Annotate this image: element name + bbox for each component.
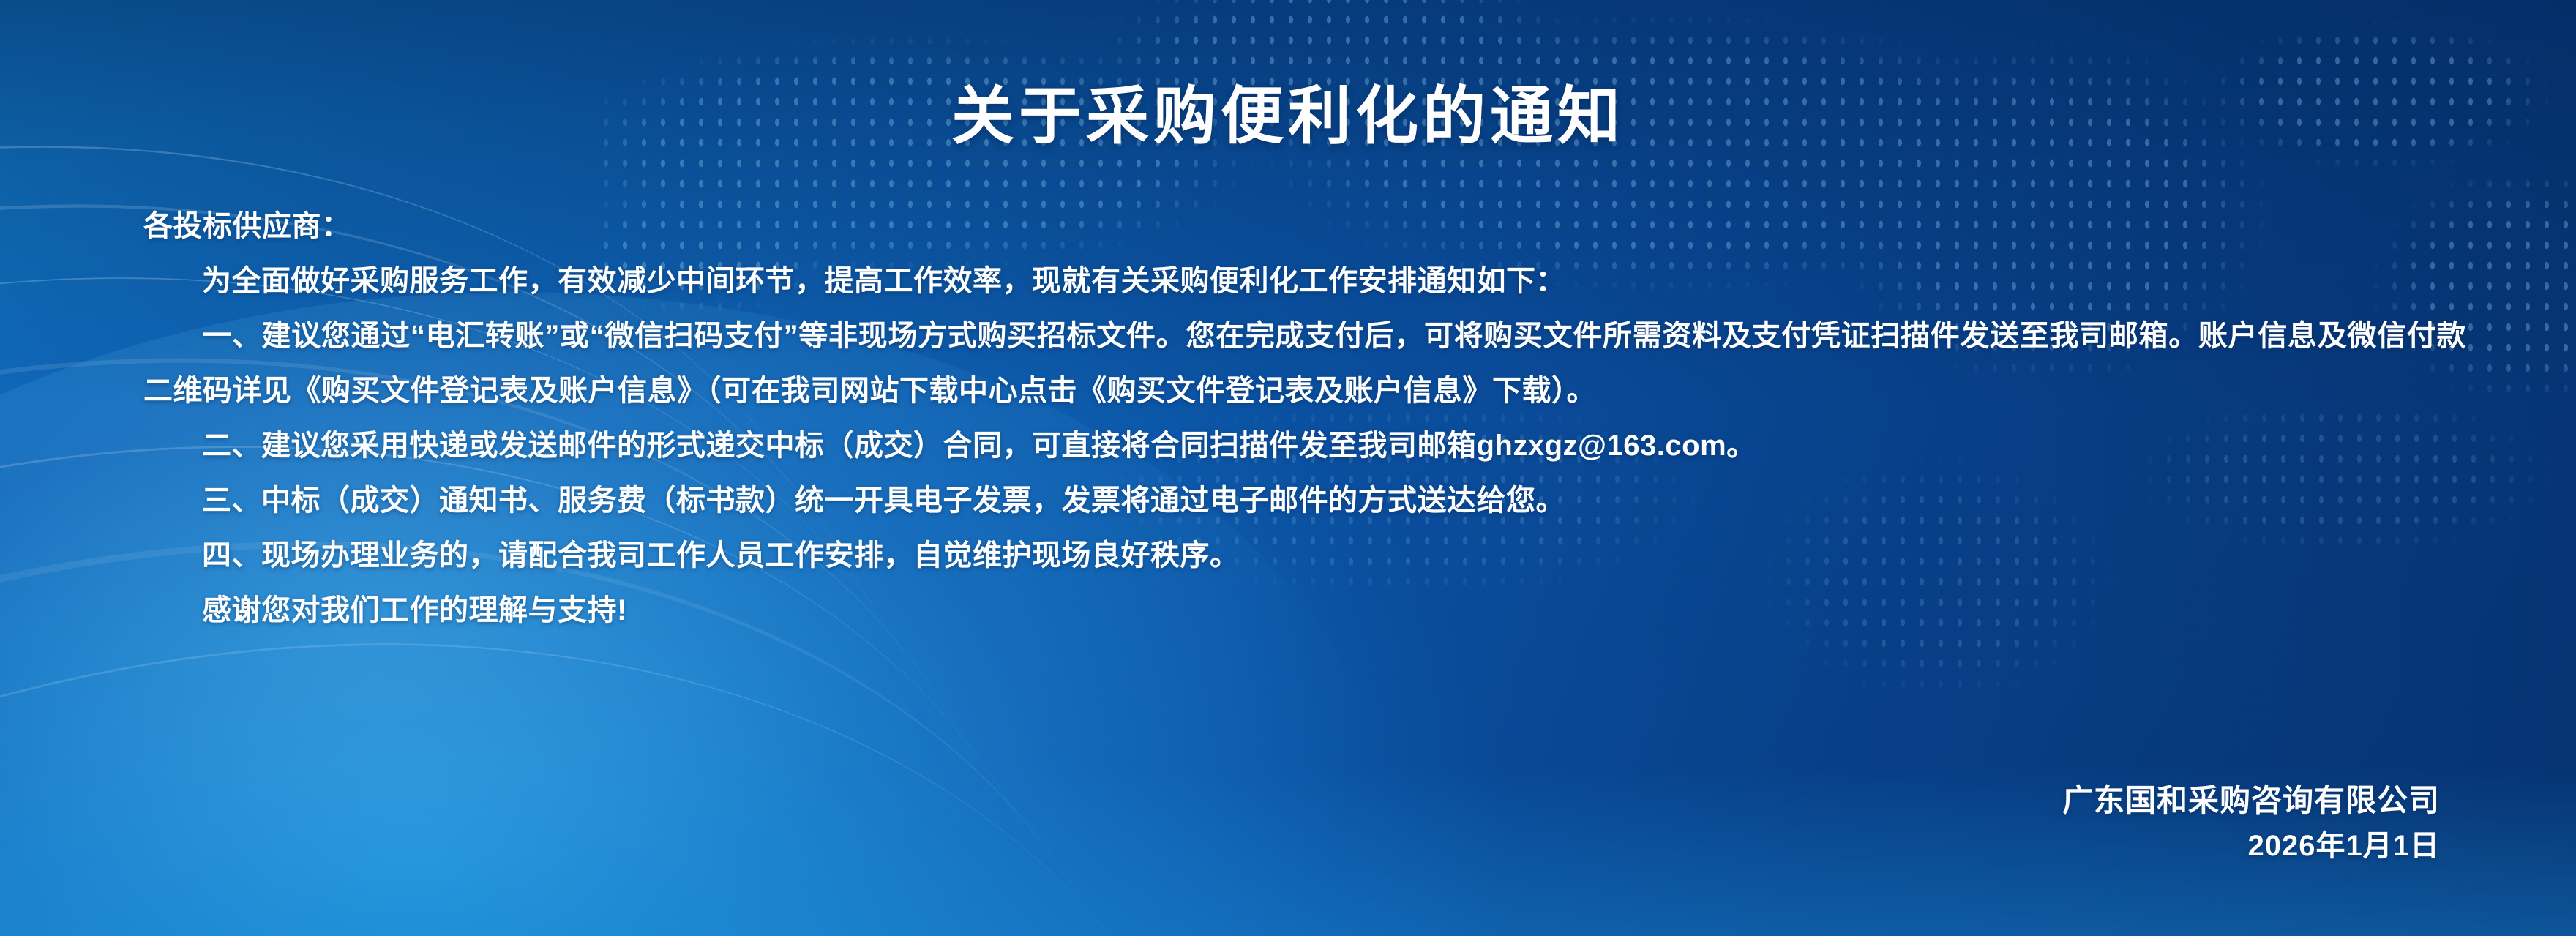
notice-body: 各投标供应商： 为全面做好采购服务工作，有效减少中间环节，提高工作效率，现就有关… bbox=[143, 199, 2466, 638]
signature-date: 2026年1月1日 bbox=[2062, 823, 2440, 869]
banner-content: 关于采购便利化的通知 各投标供应商： 为全面做好采购服务工作，有效减少中间环节，… bbox=[0, 0, 2576, 936]
signature-company: 广东国和采购咨询有限公司 bbox=[2062, 778, 2440, 823]
paragraph-item-3: 三、中标（成交）通知书、服务费（标书款）统一开具电子发票，发票将通过电子邮件的方… bbox=[143, 473, 2466, 528]
paragraph-intro: 为全面做好采购服务工作，有效减少中间环节，提高工作效率，现就有关采购便利化工作安… bbox=[143, 254, 2466, 309]
notice-banner: 关于采购便利化的通知 各投标供应商： 为全面做好采购服务工作，有效减少中间环节，… bbox=[0, 0, 2576, 936]
salutation: 各投标供应商： bbox=[143, 199, 2466, 254]
signature-block: 广东国和采购咨询有限公司 2026年1月1日 bbox=[2062, 778, 2440, 869]
paragraph-item-1: 一、建议您通过“电汇转账”或“微信扫码支付”等非现场方式购买招标文件。您在完成支… bbox=[143, 309, 2466, 419]
paragraph-item-4: 四、现场办理业务的，请配合我司工作人员工作安排，自觉维护现场良好秩序。 bbox=[143, 528, 2466, 583]
notice-title: 关于采购便利化的通知 bbox=[0, 64, 2576, 156]
closing-line: 感谢您对我们工作的理解与支持! bbox=[143, 583, 2466, 638]
paragraph-item-2: 二、建议您采用快递或发送邮件的形式递交中标（成交）合同，可直接将合同扫描件发至我… bbox=[143, 419, 2466, 473]
